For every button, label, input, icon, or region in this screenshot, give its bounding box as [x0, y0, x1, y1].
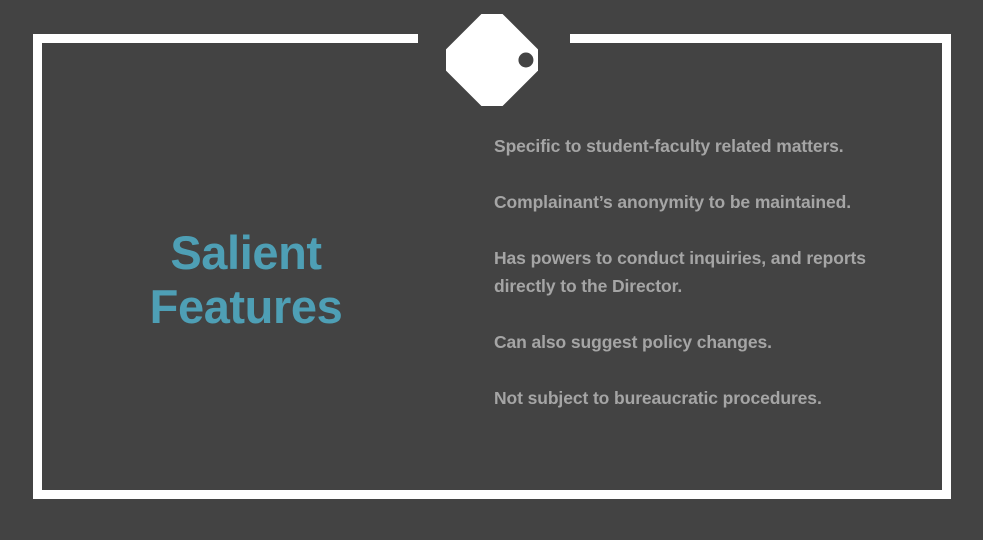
frame-border-top-right: [570, 34, 951, 43]
features-list: Specific to student-faculty related matt…: [494, 132, 924, 412]
page-title: Salient Features: [60, 226, 432, 334]
frame-border-top-left: [33, 34, 418, 43]
feature-item: Specific to student-faculty related matt…: [494, 132, 924, 160]
price-tag-icon: [446, 14, 538, 106]
frame-border-left: [33, 34, 42, 499]
feature-item: Not subject to bureaucratic procedures.: [494, 384, 924, 412]
frame-border-bottom: [33, 490, 951, 499]
feature-item: Has powers to conduct inquiries, and rep…: [494, 244, 924, 300]
frame-border-right: [942, 34, 951, 499]
slide-canvas: Salient Features Specific to student-fac…: [0, 0, 983, 540]
feature-item: Complainant’s anonymity to be maintained…: [494, 188, 924, 216]
title-block: Salient Features: [60, 226, 432, 334]
feature-item: Can also suggest policy changes.: [494, 328, 924, 356]
